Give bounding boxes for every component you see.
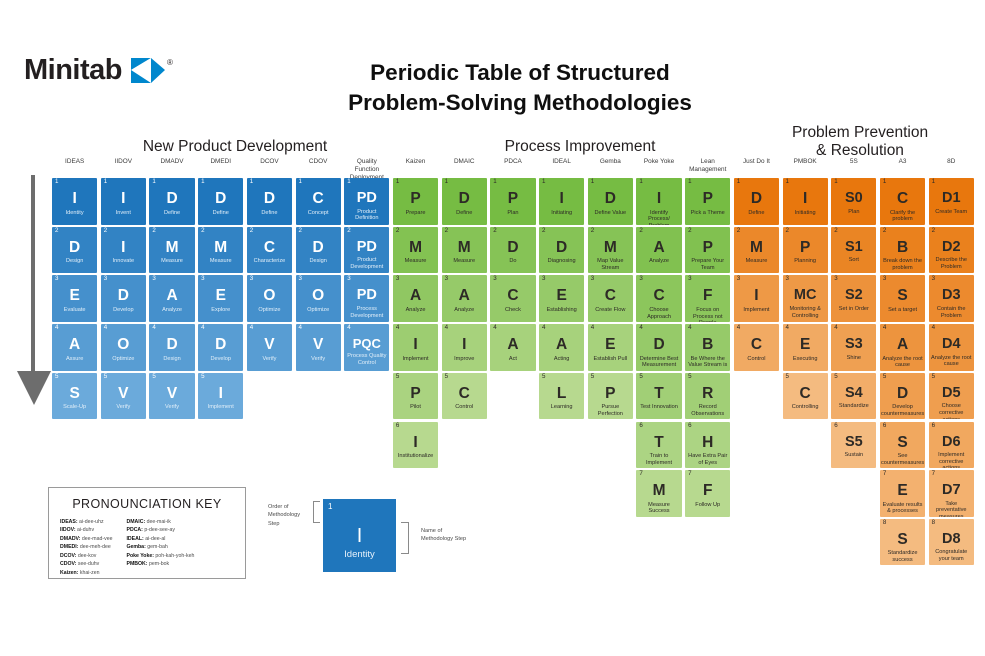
cell-step-name: Sort [847,257,861,264]
cell-step-number: 7 [932,471,935,477]
cell-step-name: Monitoring & Controlling [783,306,828,319]
pronunciation-say: pem-bok [148,561,170,567]
periodic-cell[interactable]: 5TTest Innovation [636,373,681,420]
cell-symbol: D [166,191,177,207]
periodic-cell[interactable]: 4PQCProcess Quality Control [344,324,389,371]
periodic-cell[interactable]: 2PDProduct Development [344,227,389,274]
periodic-cell[interactable]: 3S2Set in Order [831,275,876,322]
cell-step-name: Implement corrective actions [929,452,974,468]
cell-step-name: Analyze the root cause [929,355,974,368]
cell-step-name: Define [259,210,279,217]
cell-symbol: D3 [942,288,961,303]
cell-step-name: Record Observations [685,404,730,417]
cell-step-name: Choose Approach [636,307,681,320]
cell-step-number: 6 [932,423,935,429]
periodic-cell[interactable]: 2DDiagnosing [539,227,584,274]
periodic-cell[interactable]: 1IInitiating [539,178,584,225]
cell-step-name: Analyze the root cause [880,356,925,369]
pronunciation-say: p-dee-see-ay [143,527,175,533]
periodic-cell[interactable]: 2BBreak down the problem [880,227,925,274]
periodic-cell[interactable]: 2IInnovate [101,227,146,274]
cell-step-number: 2 [250,228,253,234]
periodic-cell[interactable]: 1IInitiating [783,178,828,225]
periodic-cell[interactable]: 3EEvaluate [52,275,97,322]
cell-step-name: Have Extra Pair of Eyes [685,453,730,466]
periodic-cell[interactable]: 4IImplement [393,324,438,371]
periodic-cell[interactable]: 4BBe Where the Value Stream is [685,324,730,371]
cell-symbol: S4 [845,386,863,401]
periodic-cell[interactable]: 5VVerify [149,373,194,420]
cell-symbol: D [897,386,908,402]
pronunciation-term: DMEDI: [60,544,78,550]
cell-symbol: A [507,337,518,353]
cell-symbol: A [653,240,664,256]
periodic-cell[interactable]: 4AAct [490,324,535,371]
cell-symbol: I [72,191,76,207]
cell-step-name: Define [211,210,231,217]
cell-step-name: Develop [208,356,233,363]
cell-step-number: 4 [932,325,935,331]
cell-step-number: 2 [883,228,886,234]
cell-symbol: M [214,240,227,256]
column-header-5s: 5S [831,158,876,166]
cell-step-number: 5 [396,374,399,380]
periodic-cell[interactable]: 6D6Implement corrective actions [929,422,974,469]
periodic-cell[interactable]: 4IImprove [442,324,487,371]
periodic-cell[interactable]: 2AAnalyze [636,227,681,274]
cell-step-number: 2 [542,228,545,234]
periodic-cell[interactable]: 3AAnalyze [149,275,194,322]
periodic-cell[interactable]: 5VVerify [101,373,146,420]
cell-step-name: Analyze [404,307,428,314]
periodic-cell[interactable]: 5CControlling [783,373,828,420]
cell-step-number: 1 [396,179,399,185]
cell-symbol: D4 [942,337,961,352]
periodic-cell[interactable]: 4S3Shine [831,324,876,371]
cell-step-name: Focus on Process not People [685,307,730,322]
periodic-cell[interactable]: 1DDefine [149,178,194,225]
periodic-cell[interactable]: 7EEvaluate results & processes [880,470,925,517]
periodic-cell[interactable]: 2MMeasure [393,227,438,274]
periodic-cell[interactable]: 4OOptimize [101,324,146,371]
cell-step-name: Define [454,210,474,217]
cell-symbol: O [312,288,324,304]
cell-step-name: Pick a Theme [689,210,727,217]
periodic-cell[interactable]: 3CCheck [490,275,535,322]
cell-step-number: 3 [55,276,58,282]
periodic-cell[interactable]: 2S1Sort [831,227,876,274]
cell-step-name: Control [453,404,475,411]
cell-step-number: 3 [932,276,935,282]
cell-step-number: 3 [542,276,545,282]
column-header-kaizen: Kaizen [393,158,438,166]
cell-symbol: I [559,191,563,207]
periodic-cell[interactable]: 1PPlan [490,178,535,225]
column-header-ideas: IDEAS [52,158,97,166]
periodic-cell[interactable]: 6IInstitutionalize [393,422,438,469]
periodic-cell[interactable]: 2PPrepare Your Team [685,227,730,274]
cell-step-number: 3 [299,276,302,282]
cell-symbol: A [166,288,177,304]
cell-step-name: Controlling [790,404,821,411]
cell-symbol: D7 [942,483,961,498]
cell-step-name: Characterize [252,258,288,265]
periodic-cell[interactable]: 4AAnalyze the root cause [880,324,925,371]
cell-symbol: T [654,435,663,451]
pronunciation-term: PDCA: [126,527,142,533]
cell-symbol: T [654,386,663,402]
cell-symbol: S5 [845,435,863,450]
column-header-cdov: CDOV [296,158,341,166]
cell-step-name: Be Where the Value Stream is [685,356,730,369]
cell-symbol: C [313,191,324,207]
periodic-cell[interactable]: 1PDProduct Definition [344,178,389,225]
cell-step-name: Design [307,258,328,265]
pronunciation-say: see-duhv [76,561,99,567]
cell-step-number: 1 [591,179,594,185]
cell-step-name: Plan [846,209,861,216]
periodic-cell[interactable]: 3CCreate Flow [588,275,633,322]
cell-step-number: 6 [883,423,886,429]
periodic-cell[interactable]: 3IImplement [734,275,779,322]
cell-step-name: Evaluate [62,307,88,314]
periodic-cell[interactable]: 4DDetermine Best Measurement [636,324,681,371]
column-header-dmaic: DMAIC [442,158,487,166]
periodic-cell[interactable]: 5SScale-Up [52,373,97,420]
pronunciation-say: dee-mai-ik [145,519,171,525]
periodic-cell[interactable]: 3DDevelop [101,275,146,322]
periodic-cell[interactable]: 2PPlanning [783,227,828,274]
cell-step-name: Create Team [933,209,969,216]
periodic-cell[interactable]: 5LLearning [539,373,584,420]
column-header-poke-yoke: Poke Yoke [636,158,681,166]
column-header-pmbok: PMBOK [783,158,828,166]
periodic-cell[interactable]: 3OOptimize [296,275,341,322]
cell-step-number: 1 [932,179,935,185]
cell-step-number: 3 [104,276,107,282]
cell-symbol: D [507,240,518,256]
cell-step-name: Evaluate results & processes [880,502,925,515]
cell-step-number: 6 [834,423,837,429]
cell-step-number: 3 [396,276,399,282]
cell-step-name: Prepare [404,210,428,217]
cell-step-name: Executing [791,356,820,363]
cell-symbol: C [751,337,762,353]
periodic-cell[interactable]: 2MMeasure [734,227,779,274]
periodic-cell[interactable]: 7MMeasure Success [636,470,681,517]
pronunciation-term: IIDOV: [60,527,76,533]
periodic-cell[interactable]: 1DDefine [247,178,292,225]
cell-step-number: 1 [834,179,837,185]
periodic-cell[interactable]: 3D3Contain the Problem [929,275,974,322]
periodic-cell[interactable]: 5PPursue Perfection [588,373,633,420]
cell-step-number: 2 [152,228,155,234]
cell-step-number: 4 [152,325,155,331]
periodic-cell[interactable]: 1PPrepare [393,178,438,225]
cell-symbol: B [897,240,908,256]
cell-step-number: 1 [883,179,886,185]
periodic-cell[interactable]: 3PDProcess Development [344,275,389,322]
cell-step-name: Verify [309,356,327,363]
cell-step-number: 1 [688,179,691,185]
cell-symbol: M [604,240,617,256]
cell-step-number: 4 [445,325,448,331]
cell-symbol: S0 [845,191,863,206]
periodic-cell[interactable]: 1CClarify the problem [880,178,925,225]
cell-step-number: 2 [445,228,448,234]
cell-symbol: C [897,191,908,207]
periodic-cell[interactable]: 1DDefine [442,178,487,225]
cell-symbol: P [800,240,810,256]
cell-symbol: I [754,288,758,304]
cell-step-name: Act [507,356,519,363]
cell-step-name: Prepare Your Team [685,258,730,271]
periodic-cell[interactable]: 5IImplement [198,373,243,420]
cell-symbol: MC [794,288,817,303]
cell-step-name: Identify Process/ Problem [636,210,681,225]
cell-symbol: D [313,240,324,256]
periodic-cell[interactable]: 1CConcept [296,178,341,225]
cell-symbol: P [410,386,420,402]
cell-symbol: D [605,191,616,207]
cell-step-number: 1 [152,179,155,185]
cell-step-name: Define [746,210,766,217]
cell-symbol: S [897,532,907,548]
cell-step-name: Analyze [452,307,476,314]
cell-step-number: 5 [786,374,789,380]
pronunciation-entry: DMEDI: dee-meh-dee [60,543,112,551]
cell-symbol: S [897,288,907,304]
cell-symbol: D [215,191,226,207]
cell-step-number: 4 [55,325,58,331]
cell-step-name: Optimize [305,307,331,314]
cell-step-name: Contain the Problem [929,306,974,319]
cell-symbol: D [264,191,275,207]
periodic-cell[interactable]: 3CChoose Approach [636,275,681,322]
cell-symbol: D1 [942,191,961,206]
periodic-cell[interactable]: 7FFollow Up [685,470,730,517]
cell-step-name: Pursue Perfection [588,404,633,417]
cell-step-number: 1 [201,179,204,185]
periodic-cell[interactable]: 2MMap Value Stream [588,227,633,274]
cell-symbol: P [410,191,420,207]
cell-step-name: Diagnosing [546,258,578,265]
periodic-cell[interactable]: 2DDo [490,227,535,274]
page-title-line1: Periodic Table of Structured [320,58,720,88]
cell-symbol: I [413,435,417,451]
pronunciation-entry: DMADV: dee-mad-vee [60,535,112,543]
cell-step-name: Standardize [837,403,871,410]
periodic-cell[interactable]: 2MMeasure [442,227,487,274]
cell-step-name: Clarify the problem [880,210,925,223]
cell-symbol: I [657,191,661,207]
cell-step-name: Verify [163,404,181,411]
periodic-cell[interactable]: 8SStandardize success [880,519,925,566]
pronunciation-list-right: DMAIC: dee-mai-ikPDCA: p-dee-see-ayIDEAL… [126,518,194,577]
pronunciation-say: ai-dee-uhz [78,519,104,525]
cell-symbol: C [605,288,616,304]
periodic-cell[interactable]: 4VVerify [296,324,341,371]
cell-symbol: S1 [845,240,863,255]
periodic-cell[interactable]: 4D4Analyze the root cause [929,324,974,371]
legend-sample-name: Identity [323,549,396,560]
periodic-cell[interactable]: 4EEstablish Pull [588,324,633,371]
cell-step-number: 1 [737,179,740,185]
cell-step-name: Set a target [886,307,919,314]
cell-step-number: 3 [688,276,691,282]
cell-step-number: 5 [445,374,448,380]
periodic-cell[interactable]: 1IInvent [101,178,146,225]
cell-symbol: D [166,337,177,353]
cell-step-number: 1 [55,179,58,185]
cell-step-name: Choose corrective actions [929,403,974,419]
periodic-cell[interactable]: 5RRecord Observations [685,373,730,420]
cell-step-number: 4 [639,325,642,331]
pronunciation-say: gem-bah [146,544,168,550]
periodic-cell[interactable]: 5CControl [442,373,487,420]
cell-step-number: 6 [639,423,642,429]
pronunciation-term: IDEAS: [60,519,78,525]
periodic-cell[interactable]: 2MMeasure [198,227,243,274]
periodic-cell[interactable]: 5D5Choose corrective actions [929,373,974,420]
periodic-cell[interactable]: 5DDevelop countermeasures [880,373,925,420]
periodic-cell[interactable]: 4DDevelop [198,324,243,371]
periodic-cell[interactable]: 8D8Congratulate your team [929,519,974,566]
periodic-cell[interactable]: 5S4Standardize [831,373,876,420]
periodic-cell[interactable]: 3FFocus on Process not People [685,275,730,322]
periodic-cell[interactable]: 1DDefine [198,178,243,225]
cell-step-number: 3 [834,276,837,282]
cell-step-name: Product Definition [344,209,389,222]
legend-label-order: Order of Methodology Step [268,503,313,528]
periodic-cell[interactable]: 2DDesign [296,227,341,274]
cell-symbol: O [117,337,129,353]
cell-step-number: 2 [591,228,594,234]
periodic-cell[interactable]: 6HHave Extra Pair of Eyes [685,422,730,469]
cell-step-number: 4 [104,325,107,331]
periodic-cell[interactable]: 3MCMonitoring & Controlling [783,275,828,322]
pronunciation-say: dee-meh-dee [78,544,110,550]
periodic-cell[interactable]: 1IIdentity [52,178,97,225]
cell-symbol: B [702,337,713,353]
periodic-cell[interactable]: 2DDesign [52,227,97,274]
cell-step-number: 2 [299,228,302,234]
cell-step-name: Improve [452,356,476,363]
cell-symbol: I [219,386,223,402]
periodic-cell[interactable]: 3AAnalyze [393,275,438,322]
periodic-cell[interactable]: 2CCharacterize [247,227,292,274]
periodic-cell[interactable]: 6SSee countermeasures [880,422,925,469]
periodic-cell[interactable]: 3OOptimize [247,275,292,322]
cell-symbol: M [409,240,422,256]
cell-step-name: Set in Order [837,306,871,313]
periodic-cell[interactable]: 6S5Sustain [831,422,876,469]
cell-symbol: D [653,337,664,353]
cell-symbol: M [653,483,666,499]
legend-brace-left [313,501,320,523]
periodic-cell[interactable]: 4DDesign [149,324,194,371]
periodic-cell[interactable]: 3EExplore [198,275,243,322]
cell-step-number: 1 [250,179,253,185]
cell-symbol: R [702,386,713,402]
cell-symbol: M [458,240,471,256]
periodic-cell[interactable]: 4AActing [539,324,584,371]
periodic-cell[interactable]: 3EEstablishing [539,275,584,322]
cell-symbol: V [264,337,274,353]
cell-step-number: 4 [542,325,545,331]
cell-step-number: 2 [688,228,691,234]
cell-symbol: C [800,386,811,402]
periodic-cell[interactable]: 5PPilot [393,373,438,420]
periodic-cell[interactable]: 3AAnalyze [442,275,487,322]
periodic-cell[interactable]: 1S0Plan [831,178,876,225]
cell-step-name: Acting [552,356,572,363]
cell-symbol: E [556,288,566,304]
periodic-cell[interactable]: 3SSet a target [880,275,925,322]
cell-symbol: C [653,288,664,304]
cell-symbol: V [167,386,177,402]
pronunciation-key-title: PRONOUNCIATION KEY [49,497,245,511]
column-header-iidov: IIDOV [101,158,146,166]
periodic-cell[interactable]: 1D1Create Team [929,178,974,225]
periodic-cell[interactable]: 4EExecuting [783,324,828,371]
pronunciation-entry: CDOV: see-duhv [60,560,112,568]
periodic-cell[interactable]: 4VVerify [247,324,292,371]
cell-step-name: Test Innovation [638,404,680,411]
pronunciation-term: PMBOK: [126,561,147,567]
pronunciation-term: Poke Yoke: [126,553,154,559]
cell-step-name: Invent [114,210,133,217]
pronunciation-term: CDOV: [60,561,76,567]
periodic-cell[interactable]: 1IIdentify Process/ Problem [636,178,681,225]
legend-brace-right [401,522,409,554]
section-title-problem-prevention-resolution: Problem Prevention & Resolution [740,124,980,160]
page-title: Periodic Table of Structured Problem-Sol… [320,58,720,118]
periodic-cell[interactable]: 1DDefine [734,178,779,225]
periodic-cell[interactable]: 6TTrain to Implement [636,422,681,469]
column-header-dcov: DCOV [247,158,292,166]
cell-symbol: D8 [942,532,961,547]
cell-step-name: Describe the Problem [929,257,974,270]
cell-step-number: 4 [591,325,594,331]
periodic-cell[interactable]: 4AAssure [52,324,97,371]
periodic-cell[interactable]: 2D2Describe the Problem [929,227,974,274]
pronunciation-list-left: IDEAS: ai-dee-uhzIIDOV: ai-duhvDMADV: de… [60,518,112,577]
column-header-8d: 8D [929,158,974,166]
cell-symbol: H [702,435,713,451]
periodic-cell[interactable]: 4CControl [734,324,779,371]
cell-step-number: 4 [688,325,691,331]
cell-step-number: 1 [786,179,789,185]
cell-step-name: Optimize [110,356,136,363]
section-title-new-product-development: New Product Development [60,138,410,156]
periodic-cell[interactable]: 1PPick a Theme [685,178,730,225]
cell-symbol: A [410,288,421,304]
cell-symbol: A [459,288,470,304]
cell-step-name: Institutionalize [396,453,435,460]
registered-mark: ® [167,58,173,67]
periodic-cell[interactable]: 7D7Take preventative measures [929,470,974,517]
cell-step-number: 3 [152,276,155,282]
cell-step-name: Concept [306,210,331,217]
cell-step-number: 3 [445,276,448,282]
cell-step-number: 7 [688,471,691,477]
cell-step-number: 1 [299,179,302,185]
cell-symbol: S [897,435,907,451]
periodic-cell[interactable]: 1DDefine Value [588,178,633,225]
cell-symbol: D2 [942,240,961,255]
periodic-cell[interactable]: 2MMeasure [149,227,194,274]
